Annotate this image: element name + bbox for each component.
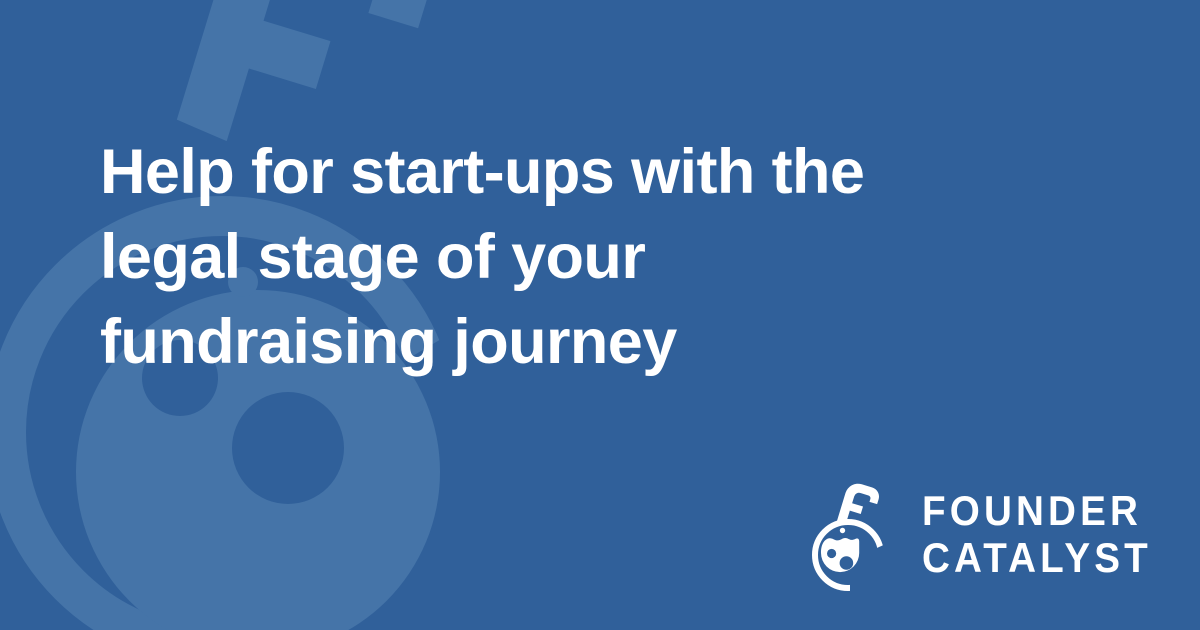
logo-wordmark-line-catalyst: CATALYST [922, 534, 1152, 581]
headline-line-1: Help for start-ups with the [100, 130, 1110, 215]
og-share-card: Help for start-ups with the legal stage … [0, 0, 1200, 630]
foundercatalyst-flask-mark-icon [804, 476, 908, 592]
headline-line-2: legal stage of your [100, 215, 1110, 300]
headline-line-3: fundraising journey [100, 300, 1110, 385]
page-headline: Help for start-ups with the legal stage … [100, 130, 1110, 385]
foundercatalyst-logo: FOUNDER CATALYST [804, 476, 1172, 592]
logo-wordmark: FOUNDER CATALYST [922, 487, 1172, 581]
logo-wordmark-line-founder: FOUNDER [922, 487, 1152, 534]
